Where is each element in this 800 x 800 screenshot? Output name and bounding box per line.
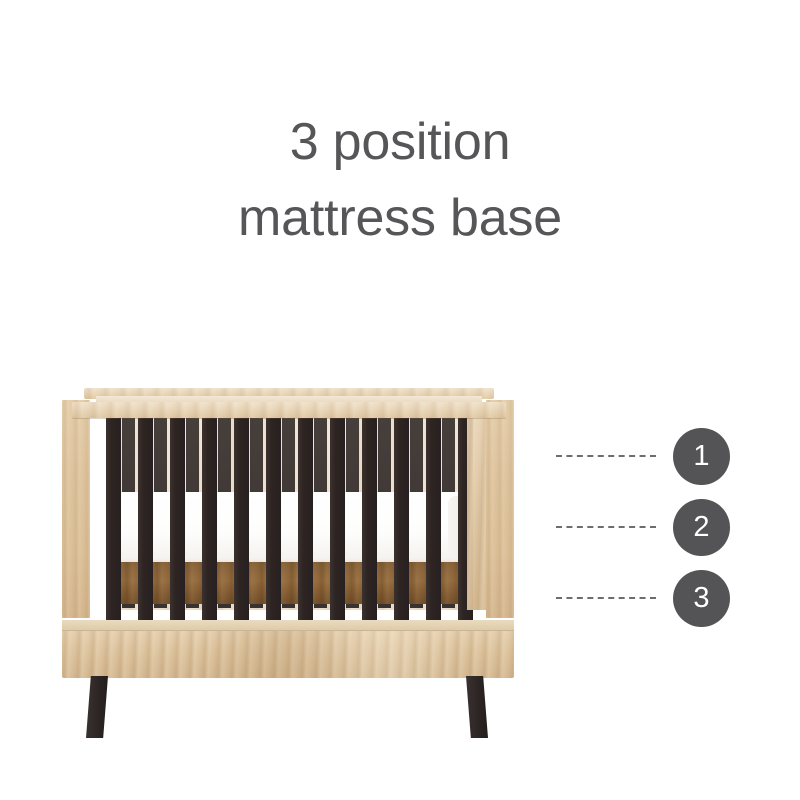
product-infographic: 3 position mattress base xyxy=(0,0,800,800)
crib-post-face-right xyxy=(467,410,486,610)
page-title-line-2: mattress base xyxy=(0,180,800,256)
crib-lower-panel-lip xyxy=(62,620,514,631)
crib-illustration xyxy=(62,388,514,690)
crib-mattress xyxy=(108,492,468,564)
crib-slat-front xyxy=(330,416,345,622)
crib-leg-left xyxy=(86,676,108,738)
crib-top-rail-front xyxy=(72,402,506,418)
crib-slat-front xyxy=(362,416,377,622)
crib-post-right xyxy=(486,400,514,618)
crib-slat-front xyxy=(298,416,313,622)
crib-slat-front xyxy=(202,416,217,622)
position-badge-3[interactable]: 3 xyxy=(673,570,730,627)
crib-slat-front xyxy=(266,416,281,622)
callout-position-2: 2 xyxy=(556,498,730,556)
crib-slat-front xyxy=(138,416,153,622)
crib-slat-front xyxy=(394,416,409,622)
page-title-line-1: 3 position xyxy=(0,104,800,180)
callout-position-3: 3 xyxy=(556,569,730,627)
crib-slat-front xyxy=(106,416,121,622)
crib-post-left xyxy=(62,400,90,618)
position-badge-2[interactable]: 2 xyxy=(673,499,730,556)
position-badge-1[interactable]: 1 xyxy=(673,428,730,485)
crib-base-shadow xyxy=(108,562,468,604)
crib-slat-front xyxy=(170,416,185,622)
page-title: 3 position mattress base xyxy=(0,104,800,256)
crib-leg-right xyxy=(466,676,488,738)
crib-slat-front xyxy=(234,416,249,622)
callout-leader-line xyxy=(556,597,656,599)
callout-leader-line xyxy=(556,455,656,457)
callout-position-1: 1 xyxy=(556,427,730,485)
callout-leader-line xyxy=(556,526,656,528)
crib-slat-front xyxy=(426,416,441,622)
